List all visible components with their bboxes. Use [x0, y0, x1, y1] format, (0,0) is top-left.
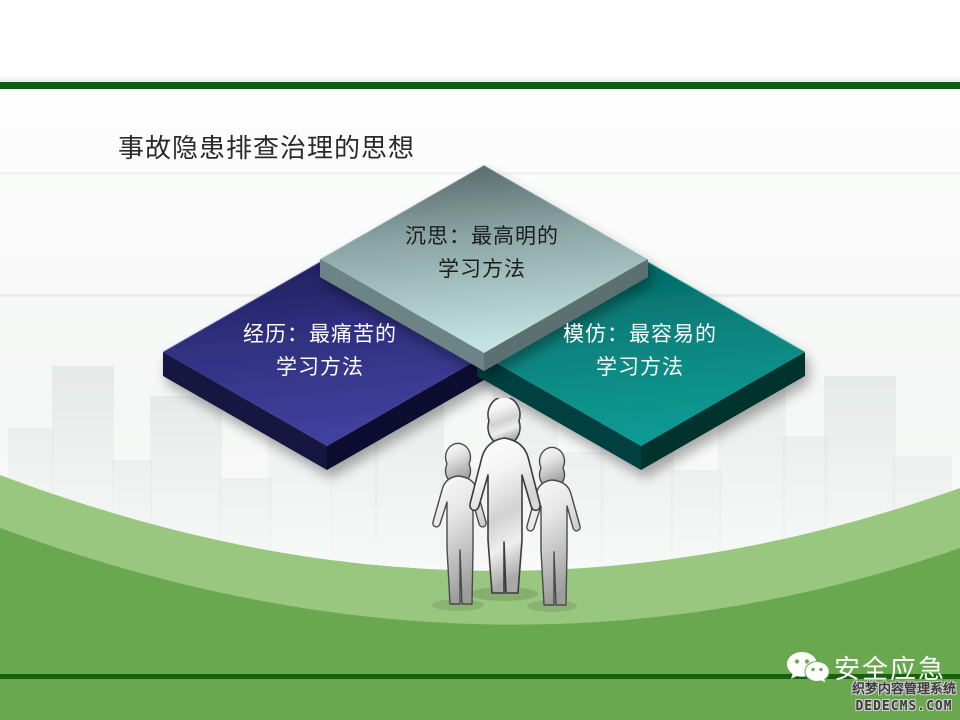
people-silhouettes-icon	[400, 398, 610, 620]
person-figure-right	[527, 447, 580, 605]
person-figure-left	[433, 443, 486, 604]
slide-canvas: 事故隐患排查治理的思想	[0, 0, 960, 720]
person-figure-center	[470, 398, 540, 593]
footer-brand-badge: 安全应急	[786, 648, 956, 684]
wechat-icon	[786, 650, 832, 684]
brand-name: 安全应急	[834, 649, 946, 686]
